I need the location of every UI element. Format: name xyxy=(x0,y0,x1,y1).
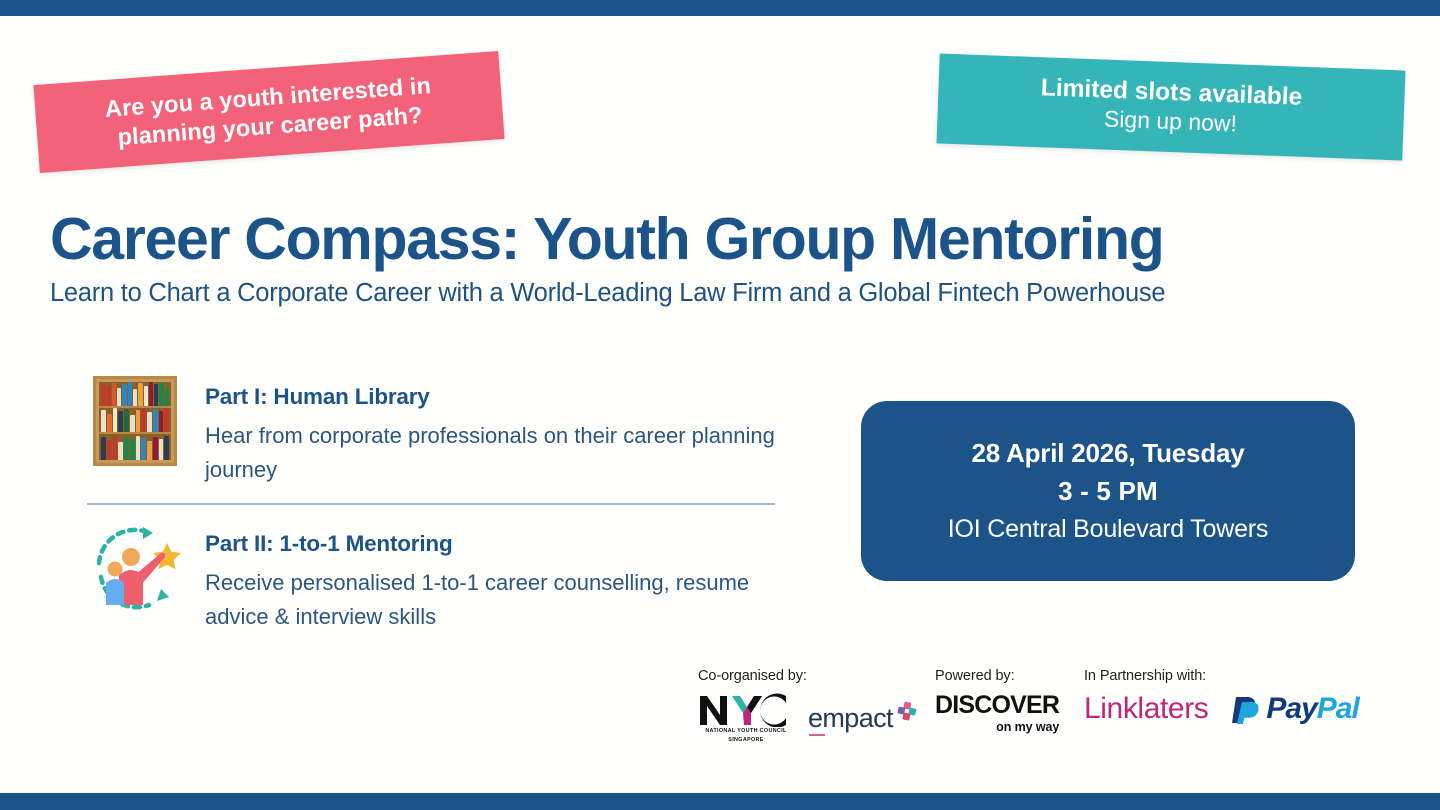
signup-callout-ribbon: Limited slots available Sign up now! xyxy=(937,53,1406,160)
programme-part-1: Part I: Human Library Hear from corporat… xyxy=(87,372,777,487)
signup-callout-line2: Sign up now! xyxy=(1103,105,1237,139)
partnership-group: In Partnership with: Linklaters PayPal xyxy=(1084,668,1359,725)
paypal-logo: PayPal xyxy=(1230,693,1358,725)
headline-block: Career Compass: Youth Group Mentoring Le… xyxy=(50,208,1395,308)
bookshelf-icon xyxy=(87,372,183,468)
event-subtitle: Learn to Chart a Corporate Career with a… xyxy=(50,279,1395,308)
discover-tagline: on my way xyxy=(935,720,1059,734)
programme-part-1-title: Part I: Human Library xyxy=(205,385,777,410)
event-time: 3 - 5 PM xyxy=(1058,473,1158,511)
audience-question-ribbon: Are you a youth interested in planning y… xyxy=(33,51,504,173)
programme-part-2-text: Part II: 1-to-1 Mentoring Receive person… xyxy=(205,519,777,634)
nyc-logo: NATIONAL YOUTH COUNCIL SINGAPORE xyxy=(698,693,794,745)
programme-parts: Part I: Human Library Hear from corporat… xyxy=(87,372,777,634)
empact-logo: empact xyxy=(808,705,917,732)
partnership-caption: In Partnership with: xyxy=(1084,668,1359,684)
empact-wordmark: empact xyxy=(808,705,893,732)
event-title: Career Compass: Youth Group Mentoring xyxy=(50,208,1395,271)
poster-canvas: Are you a youth interested in planning y… xyxy=(0,0,1440,810)
empact-pinwheel-icon xyxy=(895,701,917,723)
co-organised-group: Co-organised by: NATIONAL YOUTH COUNCIL … xyxy=(698,668,917,745)
discover-wordmark: DISCOVER xyxy=(935,693,1059,718)
programme-part-1-description: Hear from corporate professionals on the… xyxy=(205,419,777,487)
linklaters-logo: Linklaters xyxy=(1084,694,1208,724)
partner-logos: Co-organised by: NATIONAL YOUTH COUNCIL … xyxy=(690,668,1400,758)
programme-part-2-title: Part II: 1-to-1 Mentoring xyxy=(205,532,777,557)
signup-callout-line1: Limited slots available xyxy=(1040,73,1302,112)
programme-part-1-text: Part I: Human Library Hear from corporat… xyxy=(205,372,777,487)
programme-part-2-description: Receive personalised 1-to-1 career couns… xyxy=(205,566,777,634)
bottom-accent-bar xyxy=(0,793,1440,810)
mentoring-icon xyxy=(87,519,183,615)
discover-logo: DISCOVER on my way xyxy=(935,693,1059,734)
event-details-card: 28 April 2026, Tuesday 3 - 5 PM IOI Cent… xyxy=(861,401,1355,581)
event-venue: IOI Central Boulevard Towers xyxy=(948,511,1268,547)
event-date: 28 April 2026, Tuesday xyxy=(971,435,1244,473)
parts-divider xyxy=(87,503,775,505)
programme-part-2: Part II: 1-to-1 Mentoring Receive person… xyxy=(87,519,777,634)
nyc-subtitle-line2: SINGAPORE xyxy=(698,737,794,745)
paypal-word-pal: Pal xyxy=(1317,692,1359,725)
co-organised-caption: Co-organised by: xyxy=(698,668,917,684)
paypal-word-pay: Pay xyxy=(1266,692,1316,725)
powered-by-caption: Powered by: xyxy=(935,668,1059,684)
nyc-subtitle-line1: NATIONAL YOUTH COUNCIL xyxy=(698,728,794,736)
top-accent-bar xyxy=(0,0,1440,16)
powered-by-group: Powered by: DISCOVER on my way xyxy=(935,668,1059,734)
paypal-mark-icon xyxy=(1230,693,1260,725)
